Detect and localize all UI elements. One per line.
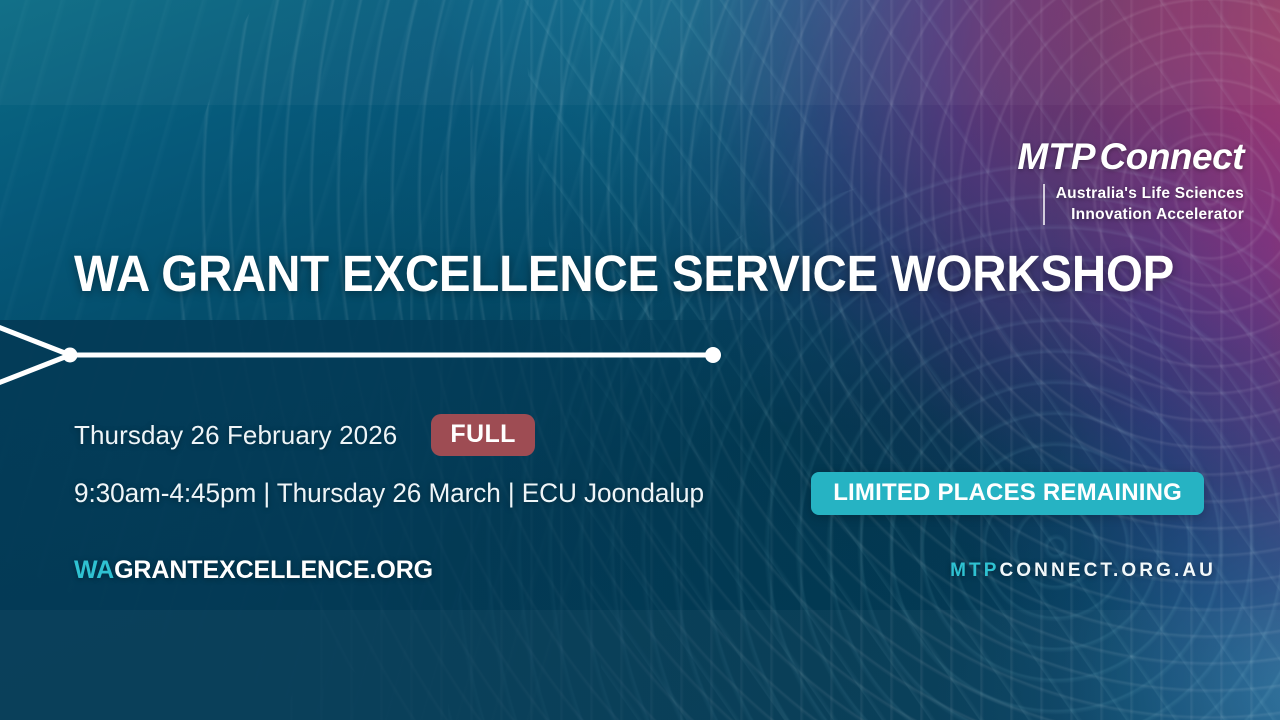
mtpconnect-logo: MTPConnect Australia's Life Sciences Inn… [1017,138,1244,225]
secondary-url-rest: CONNECT.ORG.AU [999,560,1216,581]
node-connector-graphic [0,318,760,394]
secondary-website-url[interactable]: MTPCONNECT.ORG.AU [950,560,1216,582]
brand-tagline-line-1: Australia's Life Sciences [1056,184,1244,205]
event-date-row: Thursday 26 February 2026 FULL [74,414,535,456]
page-title: WA GRANT EXCELLENCE SERVICE WORKSHOP [74,248,1174,299]
status-badge-full: FULL [431,414,534,456]
event-banner: MTPConnect Australia's Life Sciences Inn… [0,0,1280,720]
primary-url-accent: WA [74,556,114,584]
event-details: 9:30am-4:45pm | Thursday 26 March | ECU … [74,478,704,509]
brand-wordmark-mtp: MTP [1017,136,1095,177]
brand-tagline-line-2: Innovation Accelerator [1056,205,1244,226]
event-detail-row: 9:30am-4:45pm | Thursday 26 March | ECU … [74,472,1204,515]
connector-line-lower [0,355,70,394]
connector-node-right [705,347,721,363]
connector-line-upper [0,318,70,355]
connector-node-left [63,348,78,363]
primary-website-url[interactable]: WAGRANTEXCELLENCE.ORG [74,556,433,585]
primary-url-rest: GRANTEXCELLENCE.ORG [114,556,433,584]
status-badge-limited-places: LIMITED PLACES REMAINING [811,472,1204,515]
brand-wordmark-connect: Connect [1100,136,1245,177]
brand-divider-rule [1043,184,1045,225]
secondary-url-accent: MTP [950,560,999,581]
brand-tagline-block: Australia's Life Sciences Innovation Acc… [1017,184,1244,225]
event-date: Thursday 26 February 2026 [74,420,397,451]
brand-tagline: Australia's Life Sciences Innovation Acc… [1056,184,1244,225]
brand-wordmark: MTPConnect [1017,138,1244,175]
